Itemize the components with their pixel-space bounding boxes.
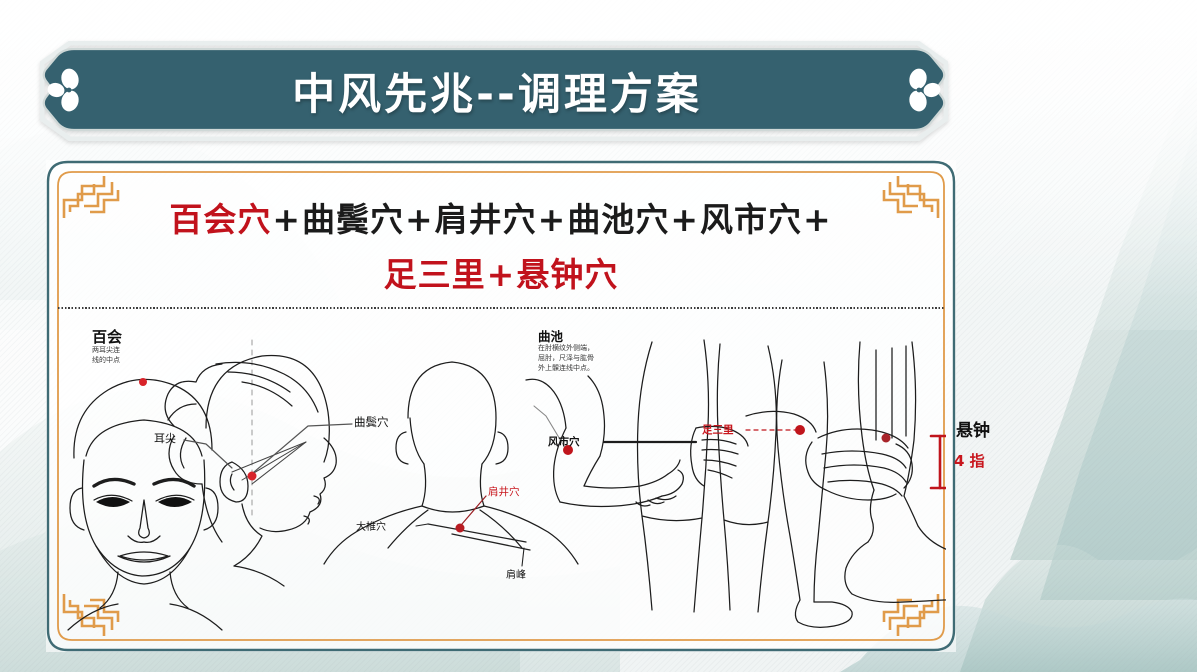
anatomy-illustration-strip: 百会 两耳尖连 线的中点 耳尖 曲鬓穴 肩井穴 大椎穴 肩峰 曲池 在肘横纹外侧…	[56, 320, 946, 640]
prescription-point: 百会穴	[169, 200, 271, 239]
prescription-line-1: 百会穴+曲鬓穴+肩井穴+曲池穴+风市穴+	[46, 193, 956, 241]
acupoint-dot-baihui	[139, 378, 147, 386]
card-content: 百会穴+曲鬓穴+肩井穴+曲池穴+风市穴+ 足三里+悬钟穴	[46, 160, 956, 652]
prescription-line-2: 足三里+悬钟穴	[46, 248, 956, 296]
label-xuanzhong: 悬钟	[956, 416, 990, 441]
label-jianfeng: 肩峰	[506, 566, 526, 581]
label-baihui-note-line2: 线的中点	[92, 356, 120, 366]
page-title: 中风先兆--调理方案	[46, 47, 942, 135]
prescription-plus: +	[802, 200, 833, 239]
content-card: 百会穴+曲鬓穴+肩井穴+曲池穴+风市穴+ 足三里+悬钟穴	[46, 160, 956, 652]
slide-stage: 中风先兆--调理方案	[0, 0, 1197, 672]
prescription-point: 曲鬓穴	[302, 200, 404, 239]
prescription-point: 风市穴	[700, 200, 802, 239]
label-qubin: 曲鬓穴	[354, 414, 389, 430]
acupoint-dot-zusanli	[795, 425, 805, 435]
acupoint-dot-qubin	[248, 472, 257, 481]
label-erjian: 耳尖	[154, 430, 176, 446]
prescription-plus: +	[486, 255, 517, 294]
figure-front-face	[68, 378, 222, 630]
label-baihui: 百会	[92, 326, 122, 347]
label-fengshi: 风市穴	[548, 434, 580, 449]
label-four-fingers: 4 指	[954, 450, 985, 471]
acupoint-dot-xuanzhong	[882, 434, 891, 443]
prescription-point: 肩井穴	[435, 200, 537, 239]
acupoint-dot-jianjing	[456, 524, 465, 533]
figure-back-neck-shoulder	[324, 362, 578, 566]
prescription-plus: +	[669, 200, 700, 239]
title-banner: 中风先兆--调理方案	[46, 47, 942, 135]
label-baihui-note-line1: 两耳尖连	[92, 346, 120, 356]
prescription-plus: +	[271, 200, 302, 239]
section-divider	[58, 307, 944, 309]
label-quchi-note-line2: 屈肘，尺泽与肱骨	[538, 354, 594, 364]
label-quchi-note-line1: 在肘横纹外侧端，	[538, 344, 594, 354]
label-quchi: 曲池	[538, 326, 563, 345]
prescription-plus: +	[537, 200, 568, 239]
label-quchi-note-line3: 外上髁连线中点。	[538, 364, 594, 374]
figure-profile-head	[165, 340, 352, 586]
label-zusanli: 足三里	[702, 422, 734, 437]
figure-ankle-foot	[806, 342, 946, 602]
prescription-plus: +	[404, 200, 435, 239]
label-dazhui: 大椎穴	[356, 518, 386, 533]
prescription-point: 悬钟穴	[516, 255, 618, 294]
prescription-point: 足三里	[384, 255, 486, 294]
prescription-point: 曲池穴	[567, 200, 669, 239]
label-jianjing: 肩井穴	[488, 484, 520, 499]
